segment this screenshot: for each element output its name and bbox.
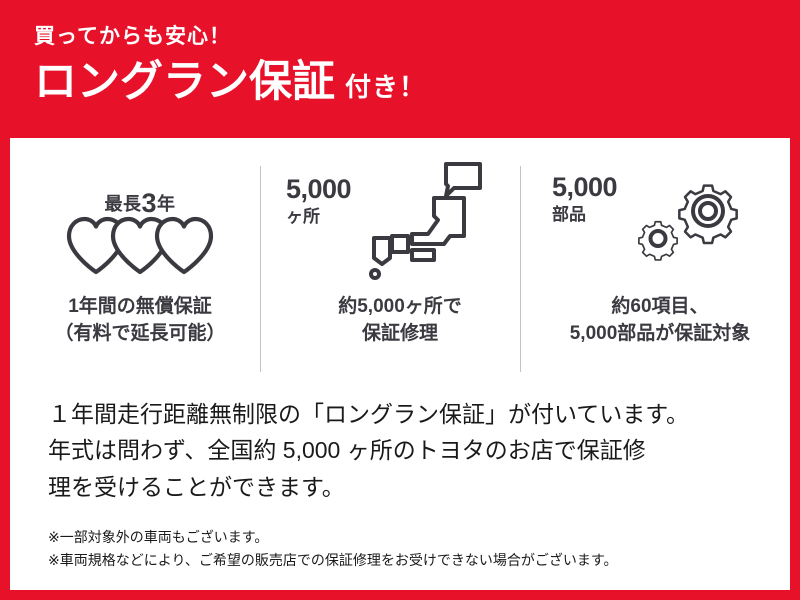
- feature-column-covered-parts: 5,000部品: [530, 152, 790, 380]
- header-tagline: 買ってからも安心！: [34, 26, 800, 47]
- feature-columns: 最長3年 1年間の無償保証 （有料で延長可能）: [10, 152, 790, 380]
- feature-2-stat-number: 5,000: [286, 174, 351, 204]
- feature-icon-area: 5,000ヶ所: [280, 152, 520, 284]
- body-copy-line3: 理を受けることができます。: [48, 469, 760, 505]
- feature-column-warranty-period: 最長3年 1年間の無償保証 （有料で延長可能）: [10, 152, 270, 380]
- feature-2-caption-line2: 保証修理: [338, 321, 462, 348]
- body-copy: １年間走行距離無制限の「ロングラン保証」が付いています。 年式は問わず、全国約 …: [48, 396, 760, 505]
- feature-3-caption-line1: 約60項目、: [570, 294, 751, 321]
- feature-3-stat-number: 5,000: [552, 172, 617, 202]
- feature-2-caption-line1: 約5,000ヶ所で: [338, 294, 462, 321]
- feature-2-caption: 約5,000ヶ所で 保証修理: [338, 294, 462, 348]
- feature-1-caption-line1: 1年間の無償保証: [54, 294, 225, 321]
- feature-2-stat: 5,000ヶ所: [286, 176, 351, 225]
- feature-icon-area: 5,000部品: [540, 152, 780, 284]
- feature-2-stat-unit: ヶ所: [286, 208, 351, 225]
- content-panel: 最長3年 1年間の無償保証 （有料で延長可能）: [10, 138, 790, 590]
- feature-1-caption: 1年間の無償保証 （有料で延長可能）: [54, 294, 225, 348]
- feature-1-stat-suffix: 年: [157, 194, 176, 214]
- feature-3-caption-line2: 5,000部品が保証対象: [570, 321, 751, 348]
- feature-3-caption: 約60項目、 5,000部品が保証対象: [570, 294, 751, 348]
- three-hearts-icon: [65, 214, 215, 281]
- japan-map-icon: [368, 158, 488, 285]
- feature-1-stat-prefix: 最長: [104, 194, 141, 214]
- poster-header: 買ってからも安心！ ロングラン保証 付き！: [0, 0, 800, 138]
- header-title-main: ロングラン保証: [34, 61, 335, 104]
- body-copy-line1: １年間走行距離無制限の「ロングラン保証」が付いています。: [48, 396, 760, 432]
- feature-column-service-locations: 5,000ヶ所: [270, 152, 530, 380]
- body-copy-line2: 年式は問わず、全国約 5,000 ヶ所のトヨタのお店で保証修: [48, 432, 760, 468]
- footnotes: ※一部対象外の車両もございます。 ※車両規格などにより、ご希望の販売店での保証修…: [48, 526, 778, 571]
- header-title-suffix: 付き！: [345, 74, 426, 100]
- footnote-2: ※車両規格などにより、ご希望の販売店での保証修理をお受けできない場合がございます…: [48, 549, 778, 572]
- feature-icon-area: 最長3年: [20, 152, 260, 284]
- feature-1-stat: 最長3年: [104, 190, 175, 217]
- feature-3-stat-unit: 部品: [552, 206, 617, 223]
- warranty-poster: 買ってからも安心！ ロングラン保証 付き！ 最長3年: [0, 0, 800, 600]
- gears-icon: [628, 170, 758, 283]
- feature-3-stat: 5,000部品: [552, 174, 617, 223]
- feature-1-caption-line2: （有料で延長可能）: [54, 321, 225, 348]
- footnote-1: ※一部対象外の車両もございます。: [48, 526, 778, 549]
- header-title-row: ロングラン保証 付き！: [34, 61, 800, 104]
